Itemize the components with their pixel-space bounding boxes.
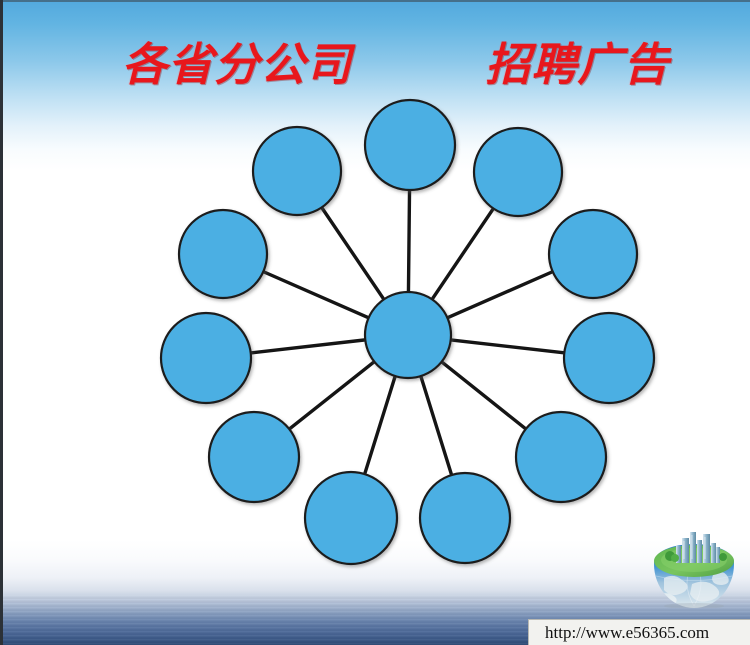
spoke-line-node-1 [408, 189, 409, 293]
spoke-line-node-5 [446, 271, 553, 318]
diagram-node-2[interactable] [253, 127, 341, 215]
page-title: 各省分公司 招聘广告 [122, 36, 682, 96]
spoke-line-node-6 [250, 340, 367, 353]
diagram-node-10[interactable] [305, 472, 397, 564]
spoke-line-node-11 [420, 375, 451, 476]
spoke-line-node-2 [321, 207, 384, 301]
frame-top-edge [0, 0, 750, 2]
diagram-node-8[interactable] [209, 412, 299, 502]
spoke-line-node-3 [431, 208, 493, 301]
watermark-url: http://www.e56365.com [528, 619, 750, 645]
hub-and-spoke-diagram [0, 0, 750, 645]
diagram-node-11[interactable] [420, 473, 510, 563]
diagram-node-1[interactable] [365, 100, 455, 190]
frame-left-edge [0, 0, 3, 645]
slide-canvas: 各省分公司 招聘广告 http://www.e56365.com [0, 0, 750, 645]
diagram-node-4[interactable] [179, 210, 267, 298]
node-circles [161, 100, 654, 564]
city-skyline [676, 532, 720, 563]
diagram-node-5[interactable] [549, 210, 637, 298]
earth-city-globe-logo [648, 528, 740, 608]
diagram-node-9[interactable] [516, 412, 606, 502]
diagram-node-6[interactable] [161, 313, 251, 403]
diagram-hub-node[interactable] [365, 292, 451, 378]
spoke-line-node-4 [262, 271, 369, 318]
diagram-node-3[interactable] [474, 128, 562, 216]
diagram-node-7[interactable] [564, 313, 654, 403]
spoke-line-node-7 [450, 340, 566, 353]
spoke-line-node-9 [441, 361, 527, 429]
spoke-line-node-10 [364, 375, 395, 475]
spoke-line-node-8 [288, 361, 375, 430]
